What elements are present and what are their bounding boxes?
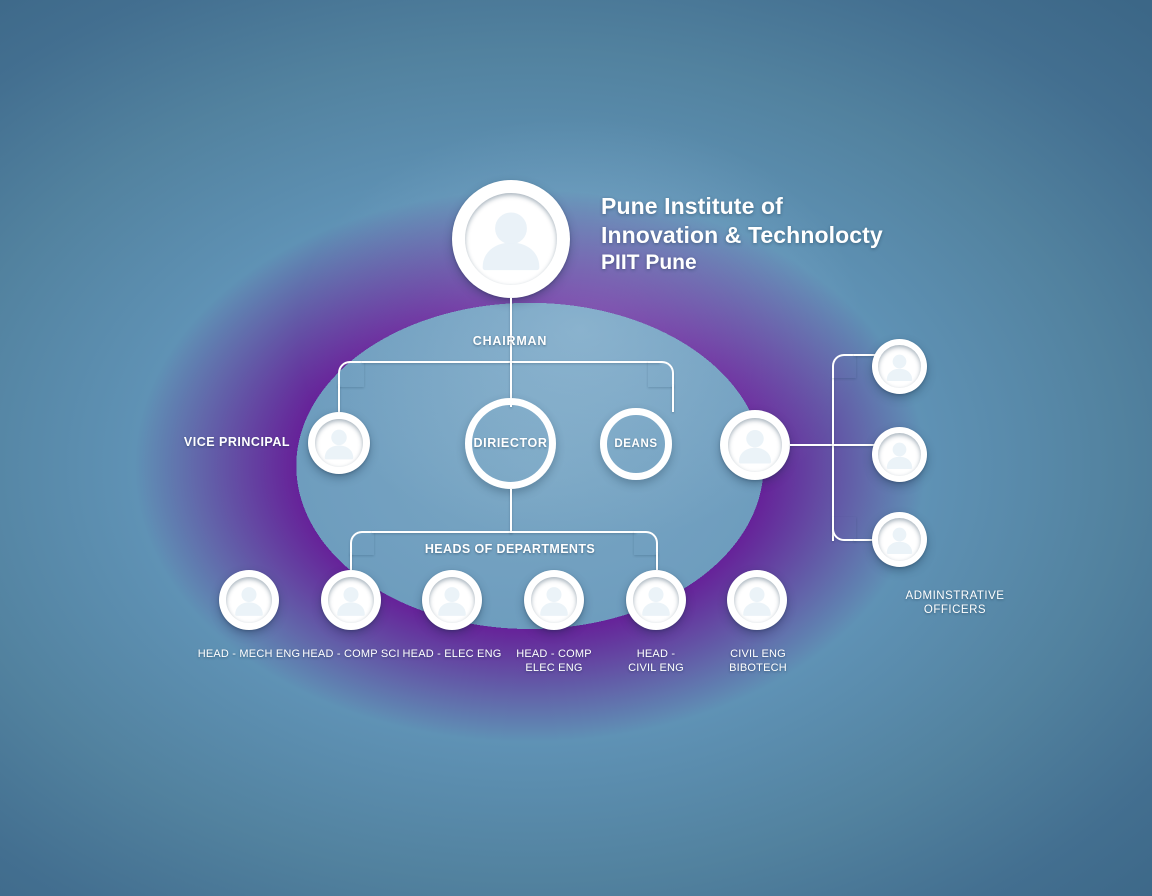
person-avatar-icon <box>321 570 381 630</box>
heads-of-departments-label: HEADS OF DEPARTMENTS <box>420 542 600 558</box>
connector-bar-left <box>362 361 512 363</box>
deans-node[interactable]: DEANS <box>600 408 672 480</box>
person-avatar-icon <box>720 410 790 480</box>
person-avatar-icon <box>219 570 279 630</box>
page-subtitle: PIIT Pune <box>601 250 1031 275</box>
department-head-6-avatar[interactable] <box>727 570 787 630</box>
connector-hod-bar-left <box>372 531 512 533</box>
admin-officer-1-avatar[interactable] <box>872 339 927 394</box>
connector-admin-corner-top <box>832 354 856 378</box>
department-head-4-avatar[interactable] <box>524 570 584 630</box>
department-head-5-label: HEAD - CIVIL ENG <box>600 648 712 676</box>
connector-director-stem <box>510 489 512 532</box>
connector-corner-left <box>338 361 364 387</box>
department-head-1-avatar[interactable] <box>219 570 279 630</box>
connector-admin-spine-upper <box>832 378 834 444</box>
director-label: DIRIECTOR <box>474 437 548 451</box>
department-head-4-label: HEAD - COMP ELEC ENG <box>496 648 612 676</box>
person-avatar-icon <box>524 570 584 630</box>
connector-admin-lead <box>790 444 832 446</box>
person-avatar-icon <box>626 570 686 630</box>
administrative-officers-label: ADMINSTRATIVE OFFICERS <box>870 589 1040 618</box>
vice-principal-label: VICE PRINCIPAL <box>155 435 290 451</box>
connector-admin-branch-middle <box>832 444 876 446</box>
connector-hod-bar-right <box>510 531 636 533</box>
connector-hod-leg-left <box>350 553 352 570</box>
chairman-avatar[interactable] <box>452 180 570 298</box>
person-avatar-icon <box>422 570 482 630</box>
connector-hod-corner-left <box>350 531 374 555</box>
connector-corner-right <box>648 361 674 387</box>
chairman-group-label: CHAIRMAN <box>430 334 590 350</box>
admin-lead-avatar[interactable] <box>720 410 790 480</box>
connector-leg-vice-principal <box>338 385 340 412</box>
connector-bar-right <box>510 361 660 363</box>
director-node[interactable]: DIRIECTOR <box>465 398 556 489</box>
admin-officer-3-avatar[interactable] <box>872 512 927 567</box>
page-title: Pune Institute of Innovation & Technoloc… <box>601 192 1031 250</box>
department-head-3-avatar[interactable] <box>422 570 482 630</box>
org-chart-canvas: Pune Institute of Innovation & Technoloc… <box>0 0 1152 896</box>
department-head-2-avatar[interactable] <box>321 570 381 630</box>
person-avatar-icon <box>872 339 927 394</box>
person-avatar-icon <box>727 570 787 630</box>
connector-hod-leg-right <box>656 553 658 570</box>
department-head-5-avatar[interactable] <box>626 570 686 630</box>
connector-root-stem <box>510 298 512 362</box>
person-avatar-icon <box>308 412 370 474</box>
connector-leg-deans <box>672 385 674 412</box>
deans-label: DEANS <box>614 438 657 451</box>
department-head-6-label: CIVIL ENG BIBOTECH <box>702 648 814 676</box>
connector-admin-corner-bottom <box>832 517 856 541</box>
person-avatar-icon <box>872 427 927 482</box>
vice-principal-avatar[interactable] <box>308 412 370 474</box>
connector-hod-corner-right <box>634 531 658 555</box>
person-avatar-icon <box>452 180 570 298</box>
admin-officer-2-avatar[interactable] <box>872 427 927 482</box>
person-avatar-icon <box>872 512 927 567</box>
